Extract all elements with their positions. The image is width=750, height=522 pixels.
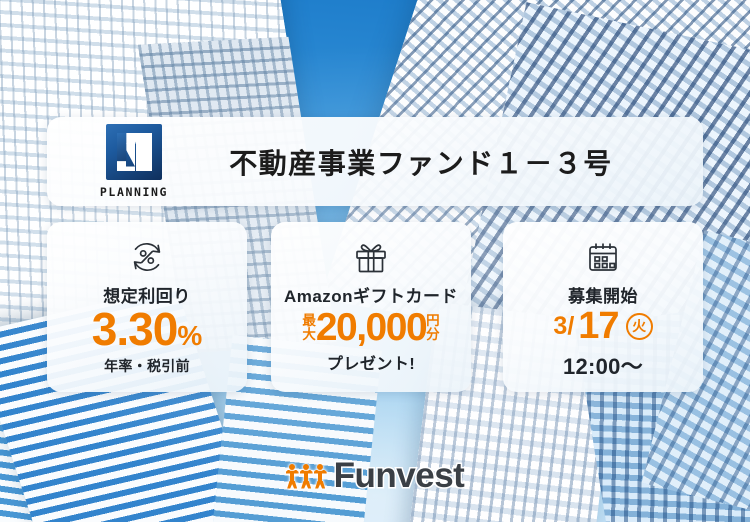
yield-value-row: 3.30 % [92, 306, 202, 352]
gift-value-row: 最 大 20,000 円 分 [302, 308, 439, 347]
gift-prefix: 最 大 [302, 314, 316, 342]
funvest-logo: Funvest [0, 456, 750, 496]
gift-suffix: 円 分 [426, 314, 440, 342]
start-weekday-badge: 火 [626, 313, 653, 340]
yield-value: 3.30 [92, 306, 178, 352]
start-date-row: 3/ 17 火 [553, 307, 652, 345]
j1-planning-logo: PLANNING [59, 124, 209, 199]
gift-prefix-top: 最 [302, 314, 316, 328]
start-time: 12:00〜 [563, 349, 643, 381]
gift-prefix-bottom: 大 [302, 328, 316, 342]
gift-suffix-bottom: 分 [426, 328, 440, 342]
gift-amount: 20,000 [316, 308, 426, 347]
card-amazon-gift: Amazonギフトカード 最 大 20,000 円 分 プレゼント! [271, 222, 471, 392]
gift-suffix-top: 円 [426, 314, 440, 328]
header-card: PLANNING 不動産事業ファンド１－３号 [47, 117, 703, 206]
j1-logo-subtext: PLANNING [100, 185, 168, 199]
card-expected-yield: 想定利回り 3.30 % 年率・税引前 [47, 222, 247, 392]
page-title: 不動産事業ファンド１－３号 [209, 142, 703, 182]
funvest-wordmark: Funvest [334, 456, 465, 496]
start-month: 3/ [553, 314, 574, 339]
gift-box-icon [350, 236, 392, 278]
start-label: 募集開始 [568, 282, 638, 307]
gift-note: プレゼント! [327, 350, 415, 374]
calendar-icon [583, 236, 623, 278]
percent-circular-arrow-icon [127, 236, 167, 278]
yield-unit: % [177, 322, 202, 350]
j1-logo-mark-icon [106, 124, 162, 180]
gift-label: Amazonギフトカード [284, 282, 458, 307]
campaign-banner: PLANNING 不動産事業ファンド１－３号 想定利回り 3.30 % 年率・税… [0, 0, 750, 522]
card-offering-start: 募集開始 3/ 17 火 12:00〜 [503, 222, 703, 392]
three-people-icon [286, 464, 327, 489]
yield-note: 年率・税引前 [104, 356, 190, 376]
start-day: 17 [578, 307, 618, 345]
